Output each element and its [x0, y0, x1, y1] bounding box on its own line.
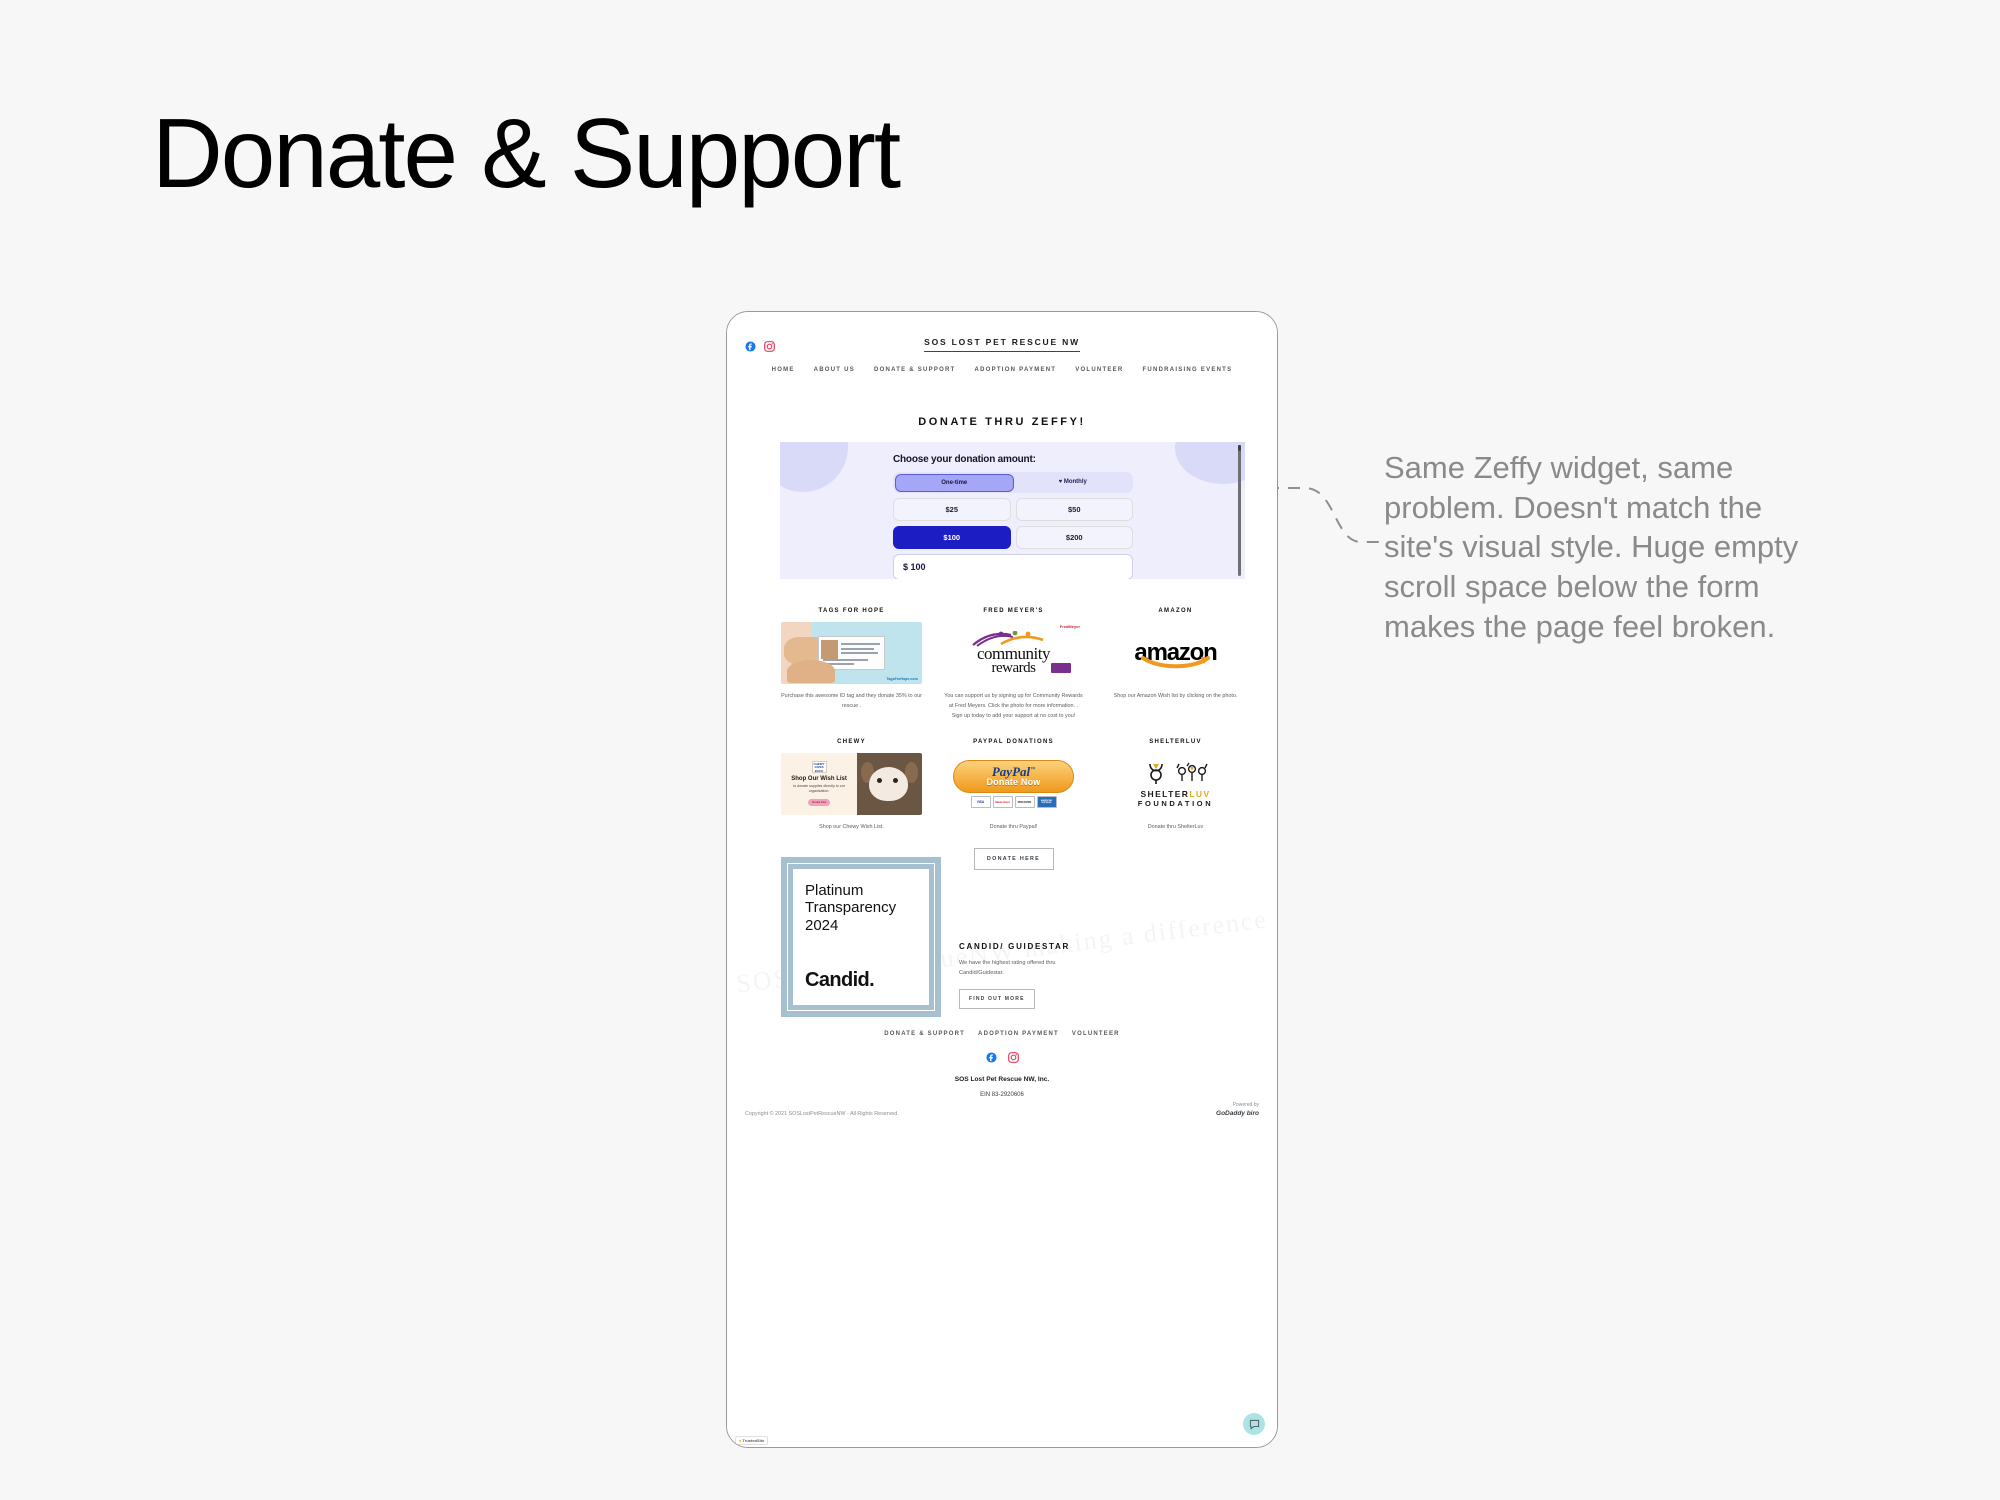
candid-body: We have the highest rating offered thru … [959, 958, 1077, 978]
puppy-head [869, 767, 908, 802]
banner-puppy-photo [857, 753, 922, 815]
partner-title: FRED MEYER'S [943, 608, 1084, 614]
footer-bottom-bar: Copyright © 2021 SOSLostPetRescueNW - Al… [727, 1102, 1277, 1117]
footer-nav[interactable]: DONATE & SUPPORT ADOPTION PAYMENT VOLUNT… [727, 1031, 1277, 1037]
partner-paypal[interactable]: PAYPAL DONATIONS PayPal™ Donate Now VISA… [943, 739, 1084, 870]
device-frame: SOS LOST PET RESCUE NW HOME ABOUT US DON… [726, 311, 1278, 1448]
paypal-donate-button-image[interactable]: PayPal™ Donate Now VISA MasterCard DISCO… [943, 753, 1084, 815]
paypal-donate-now-button[interactable]: PayPal™ Donate Now [953, 760, 1073, 793]
donate-now-label: Donate Now [954, 778, 1072, 787]
footer-ein: EIN 83-2920606 [727, 1092, 1277, 1098]
shelterluv-logo[interactable]: SHELTERLUV FOUNDATION [1105, 753, 1246, 815]
footer-org-name: SOS Lost Pet Rescue NW, Inc. [727, 1076, 1277, 1083]
card-line [841, 643, 880, 645]
donation-amount-label: Choose your donation amount: [893, 454, 1133, 465]
card-line [823, 659, 868, 661]
amount-option-50[interactable]: $50 [1016, 498, 1134, 521]
card-line [841, 648, 875, 650]
puppy-eye [877, 778, 882, 783]
find-out-more-button[interactable]: FIND OUT MORE [959, 989, 1035, 1009]
site-brand-text: SOS LOST PET RESCUE NW [924, 337, 1080, 352]
banner-subtitle: to donate supplies directly to our organ… [786, 784, 852, 795]
visa-card-icon: VISA [971, 796, 991, 808]
widget-scrollbar-thumb[interactable] [1238, 445, 1241, 451]
seal-content: Platinum Transparency 2024 Candid. [793, 869, 929, 1005]
banner-text-side: CHEWY GIVES BACK Shop Our Wish List to d… [781, 753, 857, 815]
banner-donate-button[interactable]: Donate Now [808, 799, 830, 806]
footer-nav-donate-support[interactable]: DONATE & SUPPORT [884, 1031, 965, 1037]
partner-description: Shop our Amazon Wish list by clicking on… [1105, 691, 1246, 701]
partner-grid: TAGS FOR HOPE TagsForHope. [781, 608, 1246, 870]
partner-title: CHEWY [781, 739, 922, 745]
animals-group-icon [1175, 762, 1209, 784]
frequency-one-time[interactable]: One-time [895, 474, 1015, 492]
instagram-icon[interactable] [1008, 1052, 1019, 1063]
partner-chewy[interactable]: CHEWY CHEWY GIVES BACK Shop Our Wish Lis… [781, 739, 922, 870]
partner-shelterluv[interactable]: SHELTERLUV [1105, 739, 1246, 870]
amount-option-25[interactable]: $25 [893, 498, 1011, 521]
nav-item-fundraising-events[interactable]: FUNDRAISING EVENTS [1143, 367, 1233, 373]
zeffy-donation-widget[interactable]: Choose your donation amount: One-time ♥ … [780, 442, 1245, 579]
trustedsite-badge[interactable]: ● TrustedSite [735, 1436, 768, 1445]
partner-row-1: TAGS FOR HOPE TagsForHope. [781, 608, 1246, 721]
page-title: Donate & Support [152, 104, 899, 202]
shelter-figure-icon [1143, 760, 1169, 786]
widget-scrollbar-track[interactable] [1238, 445, 1241, 576]
photo-background: TagsForHope.com [781, 622, 922, 684]
amex-card-icon: AMERICAN EXPRESS [1037, 796, 1057, 808]
partner-title: PAYPAL DONATIONS [943, 739, 1084, 745]
fred-meyer-wordmark: FredMeyer [1060, 624, 1080, 629]
logo-artwork: community rewards FredMeyer [943, 622, 1084, 684]
partner-tags-for-hope[interactable]: TAGS FOR HOPE TagsForHope. [781, 608, 922, 721]
amazon-logo[interactable]: amazon [1105, 622, 1246, 684]
discover-card-icon: DISCOVER [1015, 796, 1035, 808]
seal-line3: 2024 [805, 917, 917, 934]
partner-description: Purchase this awesome ID tag and they do… [781, 691, 922, 711]
logo-line1: community [977, 646, 1050, 662]
amazon-smile-icon [1140, 654, 1212, 670]
partner-title: AMAZON [1105, 608, 1246, 614]
rewards-card-chip [1051, 663, 1071, 673]
nav-item-about-us[interactable]: ABOUT US [814, 367, 855, 373]
hand-bottom [787, 660, 835, 682]
footer-copyright: Copyright © 2021 SOSLostPetRescueNW - Al… [745, 1111, 899, 1117]
trustedsite-label: TrustedSite [743, 1438, 765, 1443]
shield-icon: ● [739, 1438, 741, 1443]
paypal-artwork: PayPal™ Donate Now VISA MasterCard DISCO… [943, 753, 1084, 815]
powered-by-label: Powered by [1233, 1102, 1259, 1108]
wordmark-foundation: FOUNDATION [1138, 799, 1213, 808]
annotation-text: Same Zeffy widget, same problem. Doesn't… [1384, 448, 1824, 646]
seal-line2: Transparency [805, 899, 917, 916]
partner-description: Shop our Chewy Wish List. [781, 822, 922, 832]
frequency-monthly[interactable]: ♥ Monthly [1014, 474, 1132, 492]
nav-item-home[interactable]: HOME [772, 367, 795, 373]
amount-option-100[interactable]: $100 [893, 526, 1011, 549]
accepted-cards: VISA MasterCard DISCOVER AMERICAN EXPRES… [971, 796, 1057, 808]
site-nav[interactable]: HOME ABOUT US DONATE & SUPPORT ADOPTION … [727, 367, 1277, 373]
banner-title: Shop Our Wish List [786, 776, 852, 782]
amount-row-2[interactable]: $100 $200 [893, 526, 1133, 549]
website-page: SOS LOST PET RESCUE NW HOME ABOUT US DON… [727, 312, 1277, 1447]
partner-amazon[interactable]: AMAZON amazon Shop our Amazon Wish list … [1105, 608, 1246, 721]
candid-seal[interactable]: Platinum Transparency 2024 Candid. [781, 857, 941, 1017]
seal-line1: Platinum [805, 882, 917, 899]
chewy-banner[interactable]: CHEWY GIVES BACK Shop Our Wish List to d… [781, 753, 922, 815]
candid-text-block: CANDID/ GUIDESTAR We have the highest ra… [959, 942, 1077, 1017]
nav-item-adoption-payment[interactable]: ADOPTION PAYMENT [975, 367, 1057, 373]
mastercard-icon: MasterCard [993, 796, 1013, 808]
decorative-blob-left [780, 442, 848, 492]
partner-row-2: CHEWY CHEWY GIVES BACK Shop Our Wish Lis… [781, 739, 1246, 870]
trademark-symbol: ™ [1030, 768, 1035, 773]
section-heading: DONATE THRU ZEFFY! [727, 416, 1277, 428]
logo-artwork: SHELTERLUV FOUNDATION [1105, 753, 1246, 815]
candid-heading: CANDID/ GUIDESTAR [959, 942, 1077, 951]
wordmark-shelter: SHELTER [1140, 789, 1189, 799]
footer-nav-adoption-payment[interactable]: ADOPTION PAYMENT [978, 1031, 1059, 1037]
logo-line2: rewards [992, 661, 1036, 675]
frequency-toggle[interactable]: One-time ♥ Monthly [893, 472, 1133, 493]
seal-inner-border: Platinum Transparency 2024 Candid. [787, 863, 935, 1011]
shelterluv-wordmark: SHELTERLUV [1140, 789, 1210, 799]
footer-nav-volunteer[interactable]: VOLUNTEER [1072, 1031, 1120, 1037]
logo-artwork: amazon [1105, 622, 1246, 684]
custom-amount-input[interactable]: $ 100 [893, 554, 1133, 579]
pet-photo [821, 640, 838, 658]
partner-description: Donate thru Paypal! [943, 822, 1084, 832]
candid-section: Platinum Transparency 2024 Candid. CANDI… [781, 857, 1246, 1017]
partner-fred-meyers[interactable]: FRED MEYER'S community rewards FredMeyer [943, 608, 1084, 721]
facebook-icon[interactable] [986, 1052, 997, 1063]
chewy-gives-back-logo: CHEWY GIVES BACK [812, 761, 827, 773]
footer-powered-by[interactable]: Powered by GoDaddy biro [1216, 1102, 1259, 1117]
banner-artwork: CHEWY GIVES BACK Shop Our Wish List to d… [781, 753, 922, 815]
site-footer: DONATE & SUPPORT ADOPTION PAYMENT VOLUNT… [727, 1031, 1277, 1098]
fred-meyer-logo[interactable]: community rewards FredMeyer [943, 622, 1084, 684]
card-line [841, 652, 879, 654]
nav-item-donate-support[interactable]: DONATE & SUPPORT [874, 367, 956, 373]
chat-button[interactable] [1243, 1413, 1265, 1435]
amount-row-1[interactable]: $25 $50 [893, 498, 1133, 521]
puppy-eye [893, 778, 898, 783]
wordmark-luv: LUV [1189, 789, 1210, 799]
tags-for-hope-photo[interactable]: TagsForHope.com [781, 622, 922, 684]
swoosh-icon [971, 631, 1057, 647]
chat-bubble-icon [1249, 1419, 1260, 1430]
footer-social-links[interactable] [727, 1052, 1277, 1063]
nav-item-volunteer[interactable]: VOLUNTEER [1075, 367, 1123, 373]
partner-description: Donate thru ShelterLuv [1105, 822, 1246, 832]
decorative-blob-right [1175, 442, 1245, 484]
partner-title: SHELTERLUV [1105, 739, 1246, 745]
partner-description: You can support us by signing up for Com… [943, 691, 1084, 721]
godaddy-wordmark[interactable]: GoDaddy biro [1216, 1110, 1259, 1117]
photo-url-watermark: TagsForHope.com [886, 677, 917, 681]
site-brand: SOS LOST PET RESCUE NW [727, 337, 1277, 347]
shelterluv-mark [1143, 760, 1209, 786]
seal-brand: Candid. [805, 969, 917, 992]
partner-title: TAGS FOR HOPE [781, 608, 922, 614]
amount-option-200[interactable]: $200 [1016, 526, 1134, 549]
zeffy-form[interactable]: Choose your donation amount: One-time ♥ … [893, 454, 1133, 579]
